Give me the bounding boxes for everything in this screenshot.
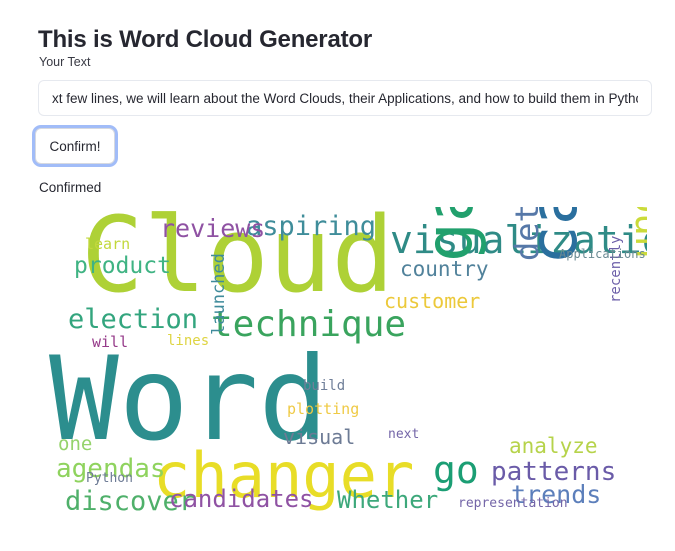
cloud-word: Applications [559, 248, 646, 260]
cloud-word: customer [384, 291, 480, 311]
cloud-word: visual [283, 427, 355, 447]
confirm-button-label: Confirm! [49, 139, 100, 154]
cloud-word: Whether [337, 488, 438, 512]
cloud-word: Python [86, 472, 133, 485]
cloud-word: representation [458, 497, 568, 510]
word-cloud-generator-app: This is Word Cloud Generator Your Text C… [0, 0, 675, 551]
cloud-word: election [68, 306, 198, 333]
cloud-word: next [388, 428, 419, 441]
your-text-input[interactable] [38, 80, 652, 116]
cloud-word: build [303, 379, 345, 393]
cloud-word: country [400, 259, 489, 280]
cloud-word: lines [167, 334, 209, 348]
cloud-word: learn [85, 237, 130, 252]
cloud-word: analyze [509, 436, 598, 457]
page-title: This is Word Cloud Generator [38, 24, 372, 56]
your-text-label: Your Text [39, 54, 90, 70]
cloud-word: launched [211, 253, 228, 335]
cloud-word: one [58, 435, 92, 454]
cloud-word: plotting [287, 402, 359, 417]
cloud-word: product [74, 255, 171, 278]
confirm-button[interactable]: Confirm! [35, 128, 115, 164]
cloud-word: candidates [169, 487, 314, 511]
cloud-word: reviews [160, 216, 265, 241]
cloud-word: technique [211, 307, 406, 343]
cloud-word: go [433, 451, 479, 489]
cloud-word: game [417, 207, 483, 262]
status-text: Confirmed [39, 179, 101, 196]
word-cloud-image: CloudWordchangervisualizationcamegametec… [43, 207, 647, 525]
cloud-word: aspiring [246, 213, 376, 240]
cloud-word: recently [609, 236, 623, 303]
cloud-word: determining [511, 207, 543, 261]
cloud-word: will [92, 335, 128, 350]
